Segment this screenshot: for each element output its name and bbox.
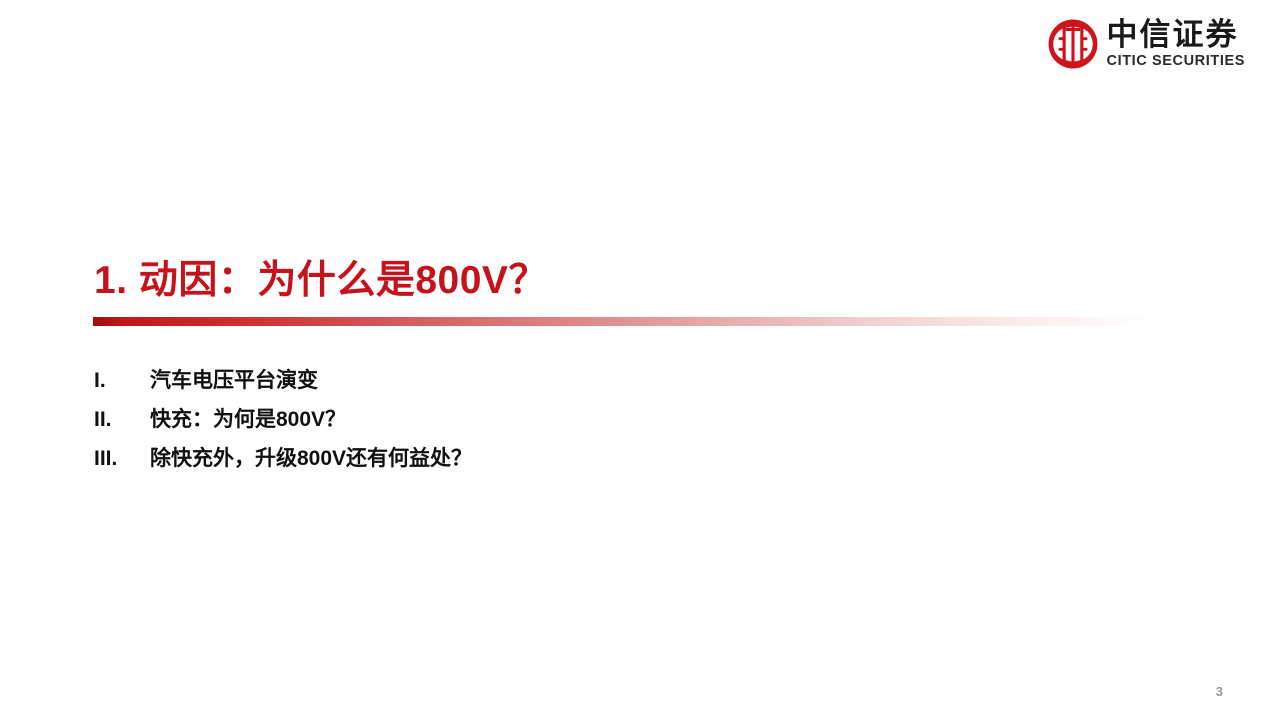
brand-name-cn: 中信证券 (1107, 19, 1246, 50)
brand-wordmark: 中信证券 CITIC SECURITIES (1107, 19, 1246, 69)
brand-name-en: CITIC SECURITIES (1107, 54, 1246, 69)
page-number: 3 (1216, 684, 1223, 699)
title-divider-bar (93, 317, 1153, 326)
section-title: 1. 动因：为什么是800V？ (94, 259, 548, 304)
outline-label: 快充：为何是800V？ (150, 400, 346, 439)
outline-list: I. 汽车电压平台演变 II. 快充：为何是800V？ III. 除快充外，升级… (94, 361, 472, 478)
outline-numeral: III. (94, 439, 150, 478)
citic-circle-logo-icon (1047, 18, 1099, 70)
outline-numeral: II. (94, 400, 150, 439)
outline-numeral: I. (94, 361, 150, 400)
brand-logo: 中信证券 CITIC SECURITIES (1047, 18, 1246, 70)
list-item: III. 除快充外，升级800V还有何益处？ (94, 439, 472, 478)
outline-label: 汽车电压平台演变 (150, 361, 318, 400)
outline-label: 除快充外，升级800V还有何益处？ (150, 439, 472, 478)
list-item: I. 汽车电压平台演变 (94, 361, 472, 400)
list-item: II. 快充：为何是800V？ (94, 400, 472, 439)
slide-canvas: 中信证券 CITIC SECURITIES 1. 动因：为什么是800V？ I.… (0, 0, 1279, 719)
